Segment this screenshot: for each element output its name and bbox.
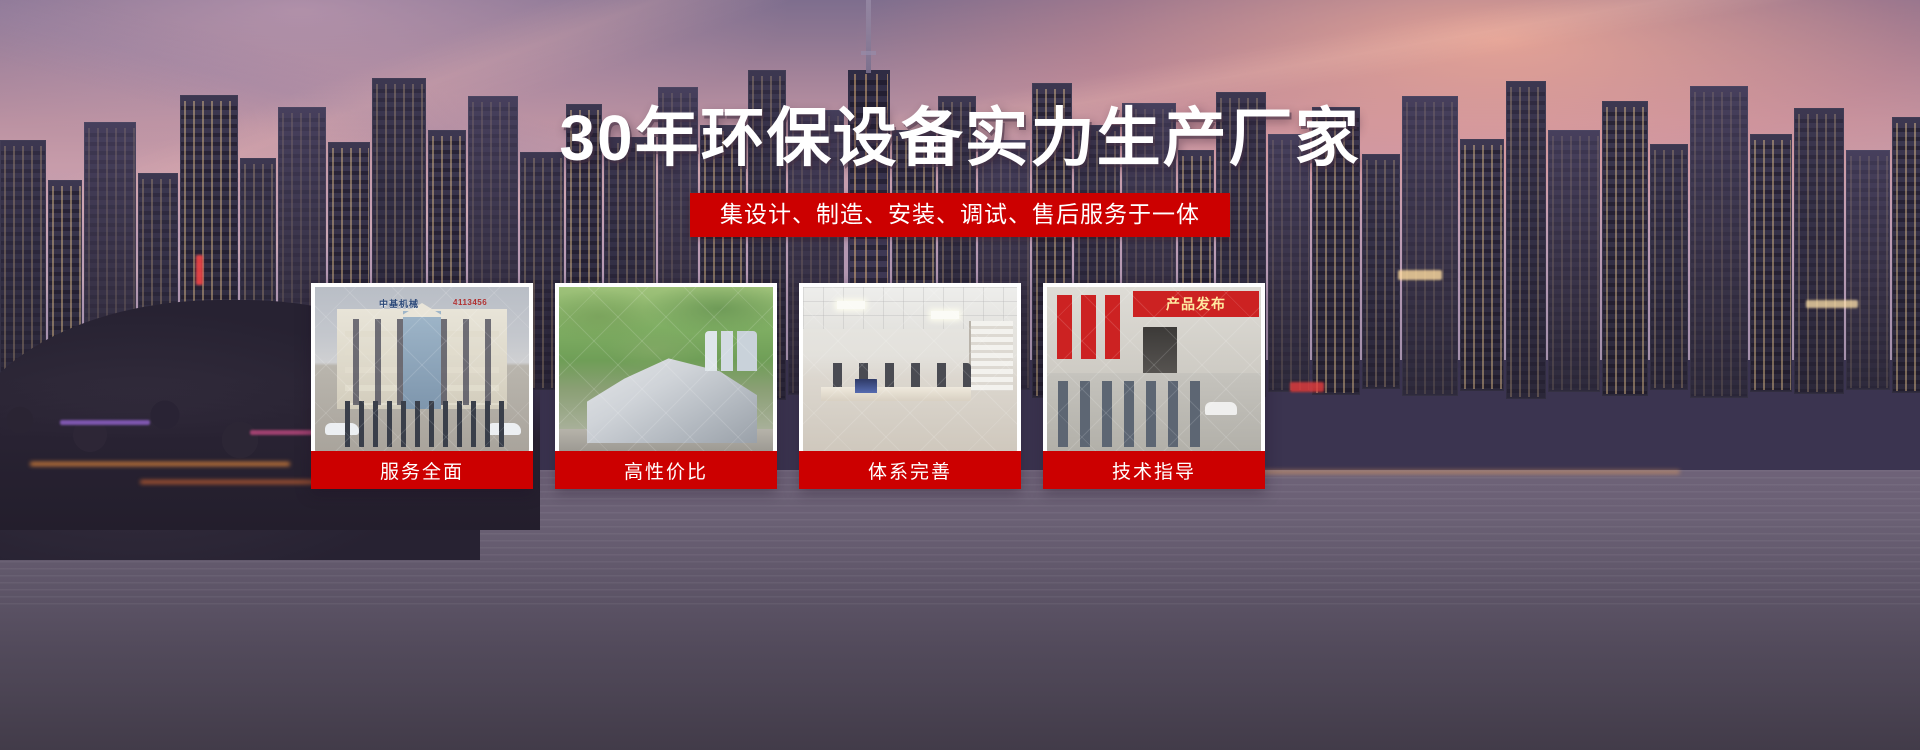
building-phone-text: 4113456 — [453, 298, 487, 307]
feature-card-list: 中基机械 4113456 服务全面 高性价比 — [311, 283, 1611, 489]
subtitle-badge: 集设计、制造、安装、调试、售后服务于一体 — [690, 193, 1230, 237]
feature-card-caption: 高性价比 — [555, 451, 777, 489]
building-sign-text: 中基机械 — [379, 297, 419, 310]
hero-banner: 30年环保设备实力生产厂家 集设计、制造、安装、调试、售后服务于一体 中基机械 … — [0, 0, 1920, 750]
feature-card-caption: 服务全面 — [311, 451, 533, 489]
feature-card-caption: 技术指导 — [1043, 451, 1265, 489]
page-title: 30年环保设备实力生产厂家 — [0, 106, 1920, 170]
tower-spire — [866, 0, 871, 73]
feature-card-caption: 体系完善 — [799, 451, 1021, 489]
feature-card[interactable]: 体系完善 — [799, 283, 1021, 489]
company-headquarters-building-photo: 中基机械 4113456 — [315, 287, 529, 451]
subtitle-container: 集设计、制造、安装、调试、售后服务于一体 — [0, 193, 1920, 237]
factory-workers-team-photo: 产品发布 — [1047, 287, 1261, 451]
office-workspace-photo — [803, 287, 1017, 451]
feature-card[interactable]: 高性价比 — [555, 283, 777, 489]
factory-banner-text: 产品发布 — [1133, 291, 1259, 317]
aerial-production-plant-photo — [559, 287, 773, 451]
feature-card[interactable]: 产品发布 技术指导 — [1043, 283, 1265, 489]
feature-card[interactable]: 中基机械 4113456 服务全面 — [311, 283, 533, 489]
